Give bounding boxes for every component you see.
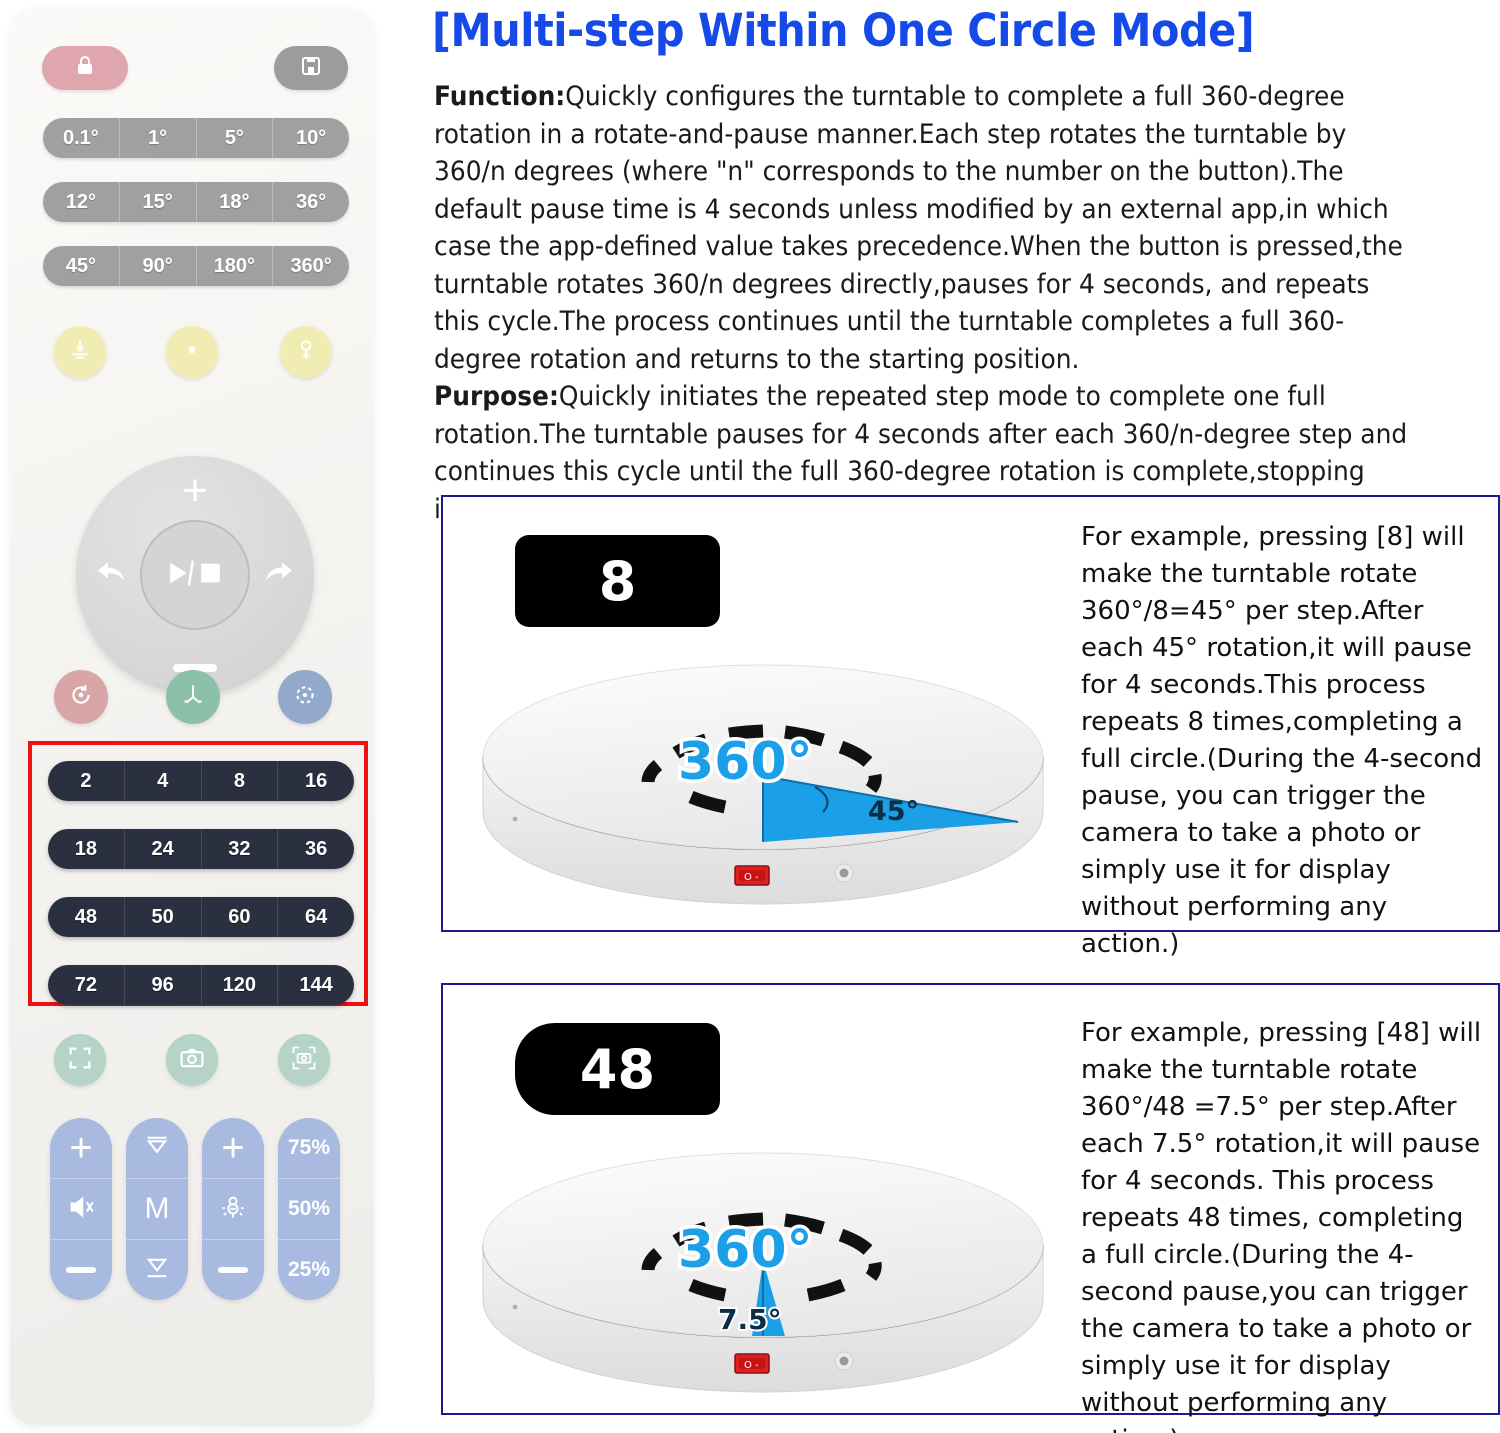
rotate-left-icon bbox=[94, 574, 128, 591]
percent-25-button[interactable]: 25% bbox=[278, 1240, 340, 1300]
degree-button[interactable]: 36° bbox=[273, 182, 349, 222]
volume-stack[interactable]: + bbox=[50, 1118, 112, 1300]
example-2-text: For example, pressing [48] will make the… bbox=[1073, 985, 1498, 1413]
mode-m-button[interactable]: M bbox=[126, 1179, 188, 1240]
light-stack[interactable]: + bbox=[202, 1118, 264, 1300]
light-up-button[interactable]: + bbox=[202, 1118, 264, 1179]
speed-down-button[interactable] bbox=[126, 1240, 188, 1300]
purpose-label: Purpose: bbox=[434, 381, 559, 412]
description-block: Function:Quickly configures the turntabl… bbox=[434, 78, 1421, 528]
mute-button[interactable] bbox=[50, 1179, 112, 1240]
degree-button[interactable]: 180° bbox=[197, 246, 274, 286]
turntable-2-svg: 360° 7.5° O - bbox=[463, 1125, 1063, 1415]
multistep-button[interactable]: 18 bbox=[48, 829, 125, 869]
loop-reverse-icon bbox=[68, 682, 94, 713]
svg-text:O -: O - bbox=[744, 1360, 759, 1371]
degree-button[interactable]: 45° bbox=[43, 246, 120, 286]
multistep-row-2[interactable]: 18 24 32 36 bbox=[48, 829, 354, 869]
dpad-plus-button[interactable]: + bbox=[182, 474, 208, 508]
page-root: 0.1° 1° 5° 10° 12° 15° 18° 36° 45° 90° 1… bbox=[0, 0, 1500, 1433]
light-bulb-button[interactable] bbox=[202, 1179, 264, 1240]
multistep-button[interactable]: 36 bbox=[278, 829, 354, 869]
minus-icon bbox=[218, 1267, 248, 1273]
multistep-button[interactable]: 8 bbox=[202, 761, 279, 801]
speed-down-icon bbox=[143, 1254, 171, 1287]
multistep-row-4[interactable]: 72 96 120 144 bbox=[48, 965, 354, 1005]
dashed-circle-button[interactable] bbox=[278, 670, 332, 724]
page-title: [Multi-step Within One Circle Mode] bbox=[432, 4, 1254, 57]
percent-stack[interactable]: 75% 50% 25% bbox=[278, 1118, 340, 1300]
speed-up-button[interactable] bbox=[126, 1118, 188, 1179]
volume-down-button[interactable] bbox=[50, 1240, 112, 1300]
example-2-tag-label: 48 bbox=[580, 1038, 655, 1101]
multistep-button[interactable]: 120 bbox=[202, 965, 279, 1005]
svg-text:O -: O - bbox=[744, 872, 759, 883]
camera-frame-button[interactable] bbox=[278, 1034, 330, 1086]
svg-text:360°: 360° bbox=[678, 732, 813, 792]
rotate-left-button[interactable] bbox=[94, 559, 128, 592]
plus-icon: + bbox=[69, 1134, 92, 1162]
turntable-2: 360° 7.5° O - bbox=[463, 1125, 1063, 1415]
dpad[interactable]: + bbox=[76, 456, 314, 694]
light-down-icon bbox=[67, 337, 93, 368]
volume-up-button[interactable]: + bbox=[50, 1118, 112, 1179]
loop-reverse-button[interactable] bbox=[54, 670, 108, 724]
example-1-text: For example, pressing [8] will make the … bbox=[1073, 497, 1498, 930]
multistep-row-1[interactable]: 2 4 8 16 bbox=[48, 761, 354, 801]
speed-stack[interactable]: M bbox=[126, 1118, 188, 1300]
degree-button[interactable]: 10° bbox=[273, 118, 349, 158]
lock-button[interactable] bbox=[42, 46, 128, 90]
multistep-button[interactable]: 72 bbox=[48, 965, 125, 1005]
turntable-1-full-label: 360° bbox=[678, 732, 813, 792]
light-down-button[interactable] bbox=[54, 326, 106, 378]
focus-frame-icon bbox=[66, 1044, 94, 1077]
speed-up-icon bbox=[143, 1132, 171, 1165]
multistep-button[interactable]: 144 bbox=[278, 965, 354, 1005]
remote-control: 0.1° 1° 5° 10° 12° 15° 18° 36° 45° 90° 1… bbox=[10, 8, 374, 1426]
turntable-1: 45° 360° O - bbox=[463, 637, 1063, 927]
example-2-illustration: 48 bbox=[443, 985, 1073, 1413]
minus-icon bbox=[66, 1267, 96, 1273]
degree-row-1[interactable]: 0.1° 1° 5° 10° bbox=[43, 118, 349, 158]
degree-button[interactable]: 12° bbox=[43, 182, 120, 222]
example-1-tag: 8 bbox=[515, 535, 720, 627]
function-text: Quickly configures the turntable to comp… bbox=[434, 81, 1403, 375]
multistep-button[interactable]: 2 bbox=[48, 761, 125, 801]
example-1-tag-label: 8 bbox=[599, 550, 637, 613]
multistep-button[interactable]: 16 bbox=[278, 761, 354, 801]
degree-button[interactable]: 15° bbox=[120, 182, 197, 222]
multistep-button[interactable]: 32 bbox=[202, 829, 279, 869]
multistep-button[interactable]: 24 bbox=[125, 829, 202, 869]
svg-text:360°: 360° bbox=[678, 1220, 813, 1280]
multistep-button[interactable]: 64 bbox=[278, 897, 354, 937]
degree-row-2[interactable]: 12° 15° 18° 36° bbox=[43, 182, 349, 222]
light-dot-button[interactable] bbox=[166, 326, 218, 378]
light-down-button[interactable] bbox=[202, 1240, 264, 1300]
multistep-button[interactable]: 4 bbox=[125, 761, 202, 801]
camera-frame-icon bbox=[290, 1044, 318, 1077]
degree-button[interactable]: 90° bbox=[120, 246, 197, 286]
degree-button[interactable]: 360° bbox=[273, 246, 349, 286]
lock-icon bbox=[73, 54, 97, 83]
swing-mode-button[interactable] bbox=[166, 670, 220, 724]
percent-75-button[interactable]: 75% bbox=[278, 1118, 340, 1179]
rotate-right-button[interactable] bbox=[262, 559, 296, 592]
mute-icon bbox=[67, 1193, 95, 1226]
dashed-circle-icon bbox=[292, 682, 318, 713]
degree-button[interactable]: 0.1° bbox=[43, 118, 120, 158]
floppy-save-icon bbox=[299, 54, 323, 83]
example-2-tag: 48 bbox=[515, 1023, 720, 1115]
multistep-button[interactable]: 96 bbox=[125, 965, 202, 1005]
degree-button[interactable]: 18° bbox=[197, 182, 274, 222]
turntable-2-step-label: 7.5° bbox=[718, 1303, 782, 1336]
turntable-1-step-label: 45° bbox=[868, 796, 919, 827]
degree-button[interactable]: 1° bbox=[120, 118, 197, 158]
multistep-button[interactable]: 48 bbox=[48, 897, 125, 937]
camera-icon bbox=[178, 1044, 206, 1077]
degree-row-3[interactable]: 45° 90° 180° 360° bbox=[43, 246, 349, 286]
swing-mode-icon bbox=[180, 682, 206, 713]
function-label: Function: bbox=[434, 81, 565, 112]
camera-button[interactable] bbox=[166, 1034, 218, 1086]
multistep-button[interactable]: 50 bbox=[125, 897, 202, 937]
light-dot-icon bbox=[179, 337, 205, 368]
example-1-illustration: 8 bbox=[443, 497, 1073, 930]
percent-50-button[interactable]: 50% bbox=[278, 1179, 340, 1240]
focus-frame-button[interactable] bbox=[54, 1034, 106, 1086]
turntable-1-svg: 45° 360° O - bbox=[463, 637, 1063, 927]
light-up-icon bbox=[293, 337, 319, 368]
rotate-right-icon bbox=[262, 574, 296, 591]
degree-button[interactable]: 5° bbox=[197, 118, 274, 158]
save-button[interactable] bbox=[274, 46, 348, 90]
content-area: [Multi-step Within One Circle Mode] Func… bbox=[430, 0, 1495, 1433]
light-up-button[interactable] bbox=[280, 326, 332, 378]
example-panel-1: 8 bbox=[441, 495, 1500, 932]
turntable-2-full-label: 360° bbox=[678, 1220, 813, 1280]
play-stop-icon bbox=[164, 558, 226, 593]
multistep-row-3[interactable]: 48 50 60 64 bbox=[48, 897, 354, 937]
multistep-highlight-box: 2 4 8 16 18 24 32 36 48 50 60 64 72 96 1… bbox=[28, 741, 368, 1006]
multistep-button[interactable]: 60 bbox=[202, 897, 279, 937]
plus-icon: + bbox=[221, 1134, 244, 1162]
light-bulb-icon bbox=[219, 1193, 247, 1226]
play-stop-button[interactable] bbox=[140, 520, 250, 630]
example-panel-2: 48 bbox=[441, 983, 1500, 1415]
